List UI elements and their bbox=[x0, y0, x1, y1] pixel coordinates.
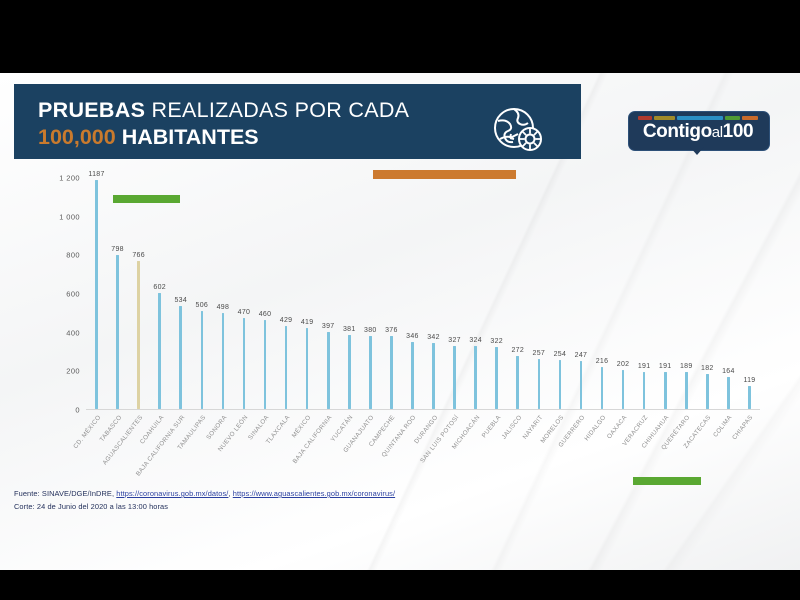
bar-value-label: 164 bbox=[722, 368, 735, 375]
bar-item[interactable]: 202 bbox=[613, 178, 634, 409]
bar-item[interactable]: 257 bbox=[528, 178, 549, 409]
title-word: HABITANTES bbox=[116, 125, 259, 149]
green-accent-top bbox=[113, 195, 180, 203]
bar-item[interactable]: 602 bbox=[149, 178, 170, 409]
bar-item[interactable]: 1187 bbox=[86, 178, 107, 409]
bar-value-label: 376 bbox=[385, 327, 398, 334]
letterbox-top bbox=[0, 0, 800, 73]
bar-rect bbox=[116, 255, 119, 409]
x-axis-label-slot: SINALOA bbox=[255, 414, 276, 494]
bar-rect bbox=[432, 343, 435, 409]
bar-item[interactable]: 376 bbox=[381, 178, 402, 409]
bar-item[interactable]: 191 bbox=[655, 178, 676, 409]
letterbox-bottom bbox=[0, 570, 800, 600]
bar-rect bbox=[706, 374, 709, 409]
bar-rect bbox=[748, 386, 751, 409]
logo-text-contigo: Contigo bbox=[643, 121, 712, 142]
bar-item[interactable]: 247 bbox=[570, 178, 591, 409]
bar-rect bbox=[95, 180, 98, 409]
title-number: 100,000 bbox=[38, 125, 116, 149]
source-link-aguascalientes[interactable]: https://www.aguascalientes.gob.mx/corona… bbox=[233, 489, 395, 498]
bar-item[interactable]: 429 bbox=[276, 178, 297, 409]
bar-item[interactable]: 191 bbox=[634, 178, 655, 409]
y-axis-tick: 200 bbox=[66, 367, 80, 376]
page-subtitle: 100,000 HABITANTES bbox=[38, 125, 259, 150]
globe-virus-icon bbox=[488, 103, 548, 159]
bar-rect bbox=[516, 356, 519, 409]
x-axis-label-slot: CD. MÉXICO bbox=[86, 414, 107, 494]
bar-value-label: 191 bbox=[638, 363, 651, 370]
bar-item[interactable]: 470 bbox=[233, 178, 254, 409]
bar-item[interactable]: 381 bbox=[339, 178, 360, 409]
bar-value-label: 322 bbox=[490, 338, 503, 345]
bar-value-label: 766 bbox=[132, 252, 145, 259]
bar-rect bbox=[137, 261, 140, 409]
bar-rect bbox=[580, 361, 583, 409]
bar-item[interactable]: 766 bbox=[128, 178, 149, 409]
bar-rect bbox=[601, 367, 604, 409]
x-axis-label-slot: AGUASCALIENTES bbox=[128, 414, 149, 494]
green-accent-bottom bbox=[633, 477, 701, 485]
source-link-coronavirus[interactable]: https://coronavirus.gob.mx/datos/ bbox=[116, 489, 228, 498]
x-axis-label-slot: HIDALGO bbox=[592, 414, 613, 494]
bar-rect bbox=[495, 347, 498, 409]
bar-value-label: 460 bbox=[259, 311, 272, 318]
bar-value-label: 1187 bbox=[88, 171, 104, 178]
bar-item[interactable]: 272 bbox=[507, 178, 528, 409]
x-axis-label-slot: OAXACA bbox=[613, 414, 634, 494]
y-axis-tick: 600 bbox=[66, 290, 80, 299]
x-axis-label-slot: SAN LUIS POTOSÍ bbox=[444, 414, 465, 494]
bar-rect bbox=[685, 372, 688, 409]
bar-item[interactable]: 254 bbox=[549, 178, 570, 409]
bar-rect bbox=[369, 336, 372, 409]
bar-value-label: 216 bbox=[596, 358, 609, 365]
x-axis-label-slot: JALISCO bbox=[507, 414, 528, 494]
bar-value-label: 470 bbox=[238, 309, 251, 316]
bar-value-label: 119 bbox=[743, 377, 755, 384]
y-axis-tick: 0 bbox=[75, 406, 80, 415]
bar-item[interactable]: 498 bbox=[212, 178, 233, 409]
bar-value-label: 324 bbox=[469, 337, 482, 344]
bar-rect bbox=[243, 318, 246, 409]
x-axis-label-slot: MICHOACÁN bbox=[465, 414, 486, 494]
bar-rect bbox=[559, 360, 562, 409]
bar-rect bbox=[538, 359, 541, 409]
logo-text: Contigoal100 bbox=[628, 121, 768, 143]
bar-item[interactable]: 380 bbox=[360, 178, 381, 409]
bar-rect bbox=[327, 332, 330, 409]
x-axis-tick-label: CD. MÉXICO bbox=[72, 414, 102, 450]
bar-item[interactable]: 322 bbox=[486, 178, 507, 409]
footer-cut-line: Corte: 24 de Junio del 2020 a las 13:00 … bbox=[14, 500, 774, 513]
bar-series: 1187798766602534506498470460429419397381… bbox=[86, 178, 760, 409]
bar-rect bbox=[622, 370, 625, 409]
bar-item[interactable]: 342 bbox=[423, 178, 444, 409]
x-axis-label-slot: SONORA bbox=[212, 414, 233, 494]
x-axis-label-slot: BAJA CALIFORNIA bbox=[318, 414, 339, 494]
bar-value-label: 419 bbox=[301, 319, 314, 326]
logo-color-bars bbox=[638, 116, 758, 120]
bar-value-label: 191 bbox=[659, 363, 672, 370]
y-axis: 02004006008001 0001 200 bbox=[48, 178, 84, 410]
bar-item[interactable]: 798 bbox=[107, 178, 128, 409]
bar-value-label: 380 bbox=[364, 327, 377, 334]
page-title: PRUEBAS REALIZADAS POR CADA bbox=[38, 98, 409, 123]
bar-value-label: 506 bbox=[196, 302, 209, 309]
y-axis-tick: 1 200 bbox=[59, 174, 80, 183]
bar-item[interactable]: 189 bbox=[676, 178, 697, 409]
x-axis-label-slot: BAJA CALIFORNIA SUR bbox=[170, 414, 191, 494]
logo-tail bbox=[690, 147, 704, 155]
bar-item[interactable]: 346 bbox=[402, 178, 423, 409]
bar-value-label: 189 bbox=[680, 363, 693, 370]
x-axis-label-slot: COLIMA bbox=[718, 414, 739, 494]
x-axis-label-slot: NUEVO LEÓN bbox=[233, 414, 254, 494]
x-axis-label-slot: QUINTANA ROO bbox=[402, 414, 423, 494]
bar-rect bbox=[411, 342, 414, 409]
bar-item[interactable]: 119 bbox=[739, 178, 760, 409]
x-axis-label-slot: GUANAJUATO bbox=[360, 414, 381, 494]
x-axis-label-slot: YUCATÁN bbox=[339, 414, 360, 494]
footer: Fuente: SINAVE/DGE/InDRE, https://corona… bbox=[14, 487, 774, 513]
y-axis-tick: 800 bbox=[66, 251, 80, 260]
bar-chart: 02004006008001 0001 200 1187798766602534… bbox=[48, 178, 760, 438]
footer-source-line: Fuente: SINAVE/DGE/InDRE, https://corona… bbox=[14, 487, 774, 500]
bar-item[interactable]: 216 bbox=[592, 178, 613, 409]
bar-rect bbox=[664, 372, 667, 409]
bar-value-label: 272 bbox=[511, 347, 524, 354]
bar-value-label: 397 bbox=[322, 323, 335, 330]
bar-item[interactable]: 182 bbox=[697, 178, 718, 409]
contigo-al-100-logo: Contigoal100 bbox=[628, 111, 768, 155]
footer-source-prefix: Fuente: SINAVE/DGE/InDRE, bbox=[14, 489, 116, 498]
bar-rect bbox=[179, 306, 182, 409]
bar-rect bbox=[643, 372, 646, 409]
bar-item[interactable]: 460 bbox=[255, 178, 276, 409]
bar-item[interactable]: 506 bbox=[191, 178, 212, 409]
bar-rect bbox=[222, 313, 225, 409]
x-axis-label-slot: TAMAULIPAS bbox=[191, 414, 212, 494]
bar-rect bbox=[453, 346, 456, 409]
bar-value-label: 182 bbox=[701, 365, 714, 372]
bar-value-label: 342 bbox=[427, 334, 440, 341]
x-axis-label-slot: NAYARIT bbox=[528, 414, 549, 494]
x-axis-label-slot: TLAXCALA bbox=[276, 414, 297, 494]
bar-item[interactable]: 397 bbox=[318, 178, 339, 409]
logo-text-al: al bbox=[712, 124, 723, 141]
bar-value-label: 534 bbox=[174, 297, 187, 304]
bar-rect bbox=[285, 326, 288, 409]
x-axis-label-slot: MORELOS bbox=[549, 414, 570, 494]
x-axis-baseline bbox=[86, 409, 760, 410]
bar-value-label: 202 bbox=[617, 361, 630, 368]
bar-value-label: 798 bbox=[111, 246, 124, 253]
bar-rect bbox=[201, 311, 204, 409]
bar-value-label: 254 bbox=[554, 351, 567, 358]
bar-value-label: 429 bbox=[280, 317, 293, 324]
plot-area: 1187798766602534506498470460429419397381… bbox=[86, 178, 760, 410]
bar-rect bbox=[264, 320, 267, 409]
bar-rect bbox=[348, 335, 351, 409]
title-bold-word: PRUEBAS bbox=[38, 98, 145, 122]
x-axis-label-slot: CHIAPAS bbox=[739, 414, 760, 494]
x-axis-label-slot: PUEBLA bbox=[486, 414, 507, 494]
bar-item[interactable]: 164 bbox=[718, 178, 739, 409]
bar-value-label: 346 bbox=[406, 333, 419, 340]
bar-item[interactable]: 324 bbox=[465, 178, 486, 409]
bar-rect bbox=[390, 336, 393, 409]
bar-item[interactable]: 327 bbox=[444, 178, 465, 409]
bar-rect bbox=[158, 293, 161, 409]
bar-item[interactable]: 534 bbox=[170, 178, 191, 409]
bar-item[interactable]: 419 bbox=[297, 178, 318, 409]
title-rest: REALIZADAS POR CADA bbox=[145, 98, 409, 122]
x-axis-label-slot: GUERRERO bbox=[570, 414, 591, 494]
slide-stage: PRUEBAS REALIZADAS POR CADA 100,000 HABI… bbox=[0, 0, 800, 600]
bar-value-label: 602 bbox=[153, 284, 166, 291]
bar-value-label: 498 bbox=[217, 304, 230, 311]
bar-rect bbox=[727, 377, 730, 409]
bar-value-label: 247 bbox=[575, 352, 588, 359]
bar-value-label: 327 bbox=[448, 337, 461, 344]
y-axis-tick: 1 000 bbox=[59, 212, 80, 221]
bar-rect bbox=[474, 346, 477, 409]
header-banner: PRUEBAS REALIZADAS POR CADA 100,000 HABI… bbox=[14, 84, 581, 159]
slide: PRUEBAS REALIZADAS POR CADA 100,000 HABI… bbox=[0, 73, 800, 570]
bar-value-label: 257 bbox=[533, 350, 546, 357]
y-axis-tick: 400 bbox=[66, 328, 80, 337]
logo-text-100: 100 bbox=[723, 121, 754, 142]
bar-rect bbox=[306, 328, 309, 409]
bar-value-label: 381 bbox=[343, 326, 356, 333]
